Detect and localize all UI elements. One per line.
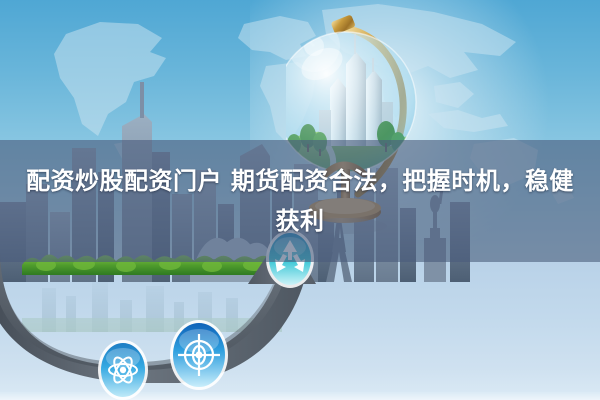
atom-icon [96, 338, 150, 400]
floor-edge [0, 392, 600, 400]
headline-text: 配资炒股配资门户 期货配资合法，把握时机，稳健获利 [0, 140, 600, 262]
target-icon [168, 318, 230, 392]
banner-image: 配资炒股配资门户 期货配资合法，把握时机，稳健获利 [0, 0, 600, 400]
